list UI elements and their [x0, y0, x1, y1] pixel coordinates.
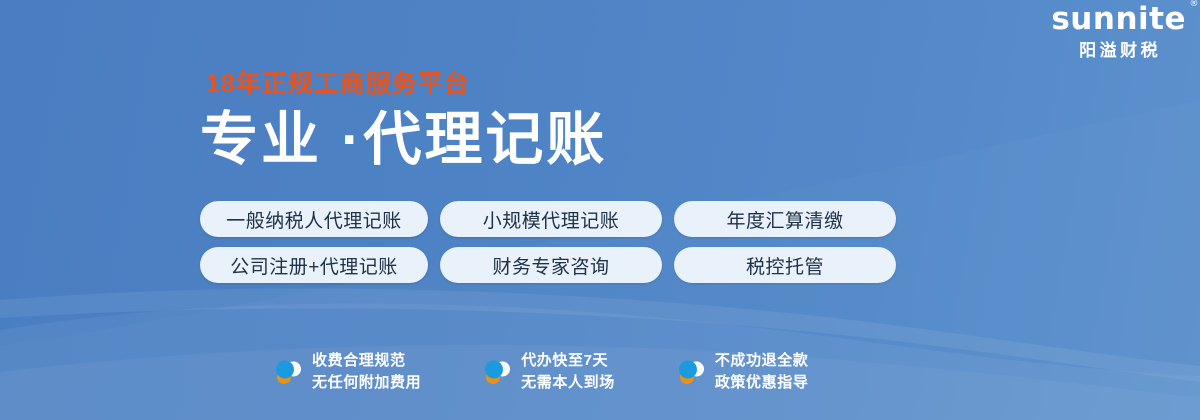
blue-orange-circle-icon [274, 357, 302, 387]
logo-wordmark-text: sunnite [1051, 1, 1186, 37]
brand-logo[interactable]: sunnite ® 阳溢财税 [1051, 4, 1186, 59]
service-pill-expert-consulting[interactable]: 财务专家咨询 [440, 247, 662, 283]
feature-list: 收费合理规范 无任何附加费用 代办快至7天 无需本人到场 [274, 350, 808, 394]
feature-text: 不成功退全款 政策优惠指导 [715, 350, 809, 394]
service-pill-general-taxpayer[interactable]: 一般纳税人代理记账 [200, 201, 428, 237]
feature-line-2: 无需本人到场 [521, 374, 615, 391]
service-pill-tax-control-hosting[interactable]: 税控托管 [674, 247, 896, 283]
feature-line-2: 政策优惠指导 [715, 374, 809, 391]
registered-trademark-icon: ® [1190, 0, 1200, 9]
service-pill-annual-settlement[interactable]: 年度汇算清缴 [674, 201, 896, 237]
promo-banner: sunnite ® 阳溢财税 18年正规工商服务平台 专业 ·代理记账 一般纳税… [0, 0, 1200, 420]
feature-line-1: 代办快至7天 [521, 352, 608, 369]
blue-orange-circle-icon [677, 357, 705, 387]
service-pill-small-scale[interactable]: 小规模代理记账 [440, 201, 662, 237]
feature-text: 收费合理规范 无任何附加费用 [312, 350, 421, 394]
blue-orange-circle-icon [483, 357, 511, 387]
feature-item-refund: 不成功退全款 政策优惠指导 [677, 350, 809, 394]
feature-item-pricing: 收费合理规范 无任何附加费用 [274, 350, 421, 394]
service-pill-row: 一般纳税人代理记账 小规模代理记账 年度汇算清缴 [200, 201, 896, 237]
page-title: 专业 ·代理记账 [200, 111, 607, 169]
service-pill-grid: 一般纳税人代理记账 小规模代理记账 年度汇算清缴 公司注册+代理记账 财务专家咨… [200, 201, 896, 283]
feature-item-speed: 代办快至7天 无需本人到场 [483, 350, 615, 394]
feature-line-2: 无任何附加费用 [312, 374, 421, 391]
feature-line-1: 不成功退全款 [715, 352, 809, 369]
feature-text: 代办快至7天 无需本人到场 [521, 350, 615, 394]
headline-block: 18年正规工商服务平台 专业 ·代理记账 [200, 72, 607, 169]
service-pill-row: 公司注册+代理记账 财务专家咨询 税控托管 [200, 247, 896, 283]
feature-line-1: 收费合理规范 [312, 352, 406, 369]
logo-chinese-name: 阳溢财税 [1051, 42, 1186, 59]
service-pill-company-registration[interactable]: 公司注册+代理记账 [200, 247, 428, 283]
logo-wordmark: sunnite ® [1051, 4, 1186, 35]
eyebrow-text: 18年正规工商服务平台 [206, 72, 607, 97]
